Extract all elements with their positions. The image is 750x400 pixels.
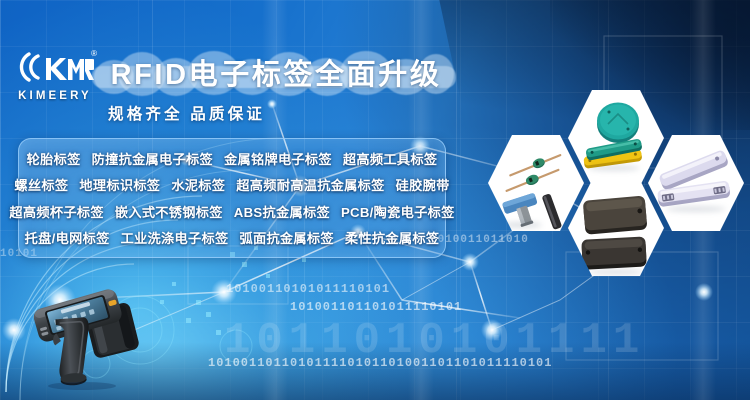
list-row: 托盘/电网标签 工业洗涤电子标签 弧面抗金属标签 柔性抗金属标签 [19, 228, 445, 247]
list-item[interactable]: 防撞抗金属电子标签 [92, 149, 213, 168]
list-item[interactable]: 硅胶腕带 [396, 175, 450, 194]
list-item[interactable]: 超高频杯子标签 [9, 202, 103, 221]
product-list-panel: 轮胎标签 防撞抗金属电子标签 金属铭牌电子标签 超高频工具标签 螺丝标签 地理标… [18, 138, 446, 258]
binary-text-2: 101001101101011110101 [290, 300, 462, 314]
rfid-banner: 10100110101011110101 1010011011010111101… [0, 0, 750, 400]
list-row: 螺丝标签 地理标识标签 水泥标签 超高频耐高温抗金属标签 硅胶腕带 [19, 175, 445, 194]
binary-text-4: 1010011011010111101011010011011010111101… [208, 356, 552, 370]
page-title: RFID电子标签全面升级 [96, 50, 456, 94]
list-item[interactable]: 托盘/电网标签 [25, 228, 110, 247]
handheld-rfid-reader[interactable] [24, 272, 156, 390]
list-item[interactable]: 嵌入式不锈钢标签 [115, 202, 223, 221]
list-item[interactable]: 超高频工具标签 [343, 149, 437, 168]
list-item[interactable]: 工业洗涤电子标签 [121, 228, 229, 247]
list-item[interactable]: 水泥标签 [171, 175, 225, 194]
list-item[interactable]: 弧面抗金属标签 [239, 228, 333, 247]
brand-logo[interactable]: ® KIMEERY [12, 50, 98, 112]
list-item[interactable]: 金属铭牌电子标签 [224, 149, 332, 168]
list-row: 超高频杯子标签 嵌入式不锈钢标签 ABS抗金属标签 PCB/陶瓷电子标签 [19, 202, 445, 221]
list-item[interactable]: 柔性抗金属标签 [345, 228, 439, 247]
binary-text-1: 10100110101011110101 [226, 282, 390, 296]
list-item[interactable]: 地理标识标签 [79, 175, 160, 194]
list-item[interactable]: PCB/陶瓷电子标签 [341, 202, 455, 221]
list-item[interactable]: 轮胎标签 [27, 149, 81, 168]
list-item[interactable]: 超高频耐高温抗金属标签 [236, 175, 384, 194]
list-row: 轮胎标签 防撞抗金属电子标签 金属铭牌电子标签 超高频工具标签 [19, 149, 445, 168]
list-item[interactable]: 螺丝标签 [14, 175, 68, 194]
kimeery-logo-icon: ® [12, 50, 98, 86]
list-item[interactable]: ABS抗金属标签 [234, 202, 330, 221]
brand-wordmark: KIMEERY [12, 90, 98, 102]
page-subtitle: 规格齐全 品质保证 [108, 102, 265, 124]
